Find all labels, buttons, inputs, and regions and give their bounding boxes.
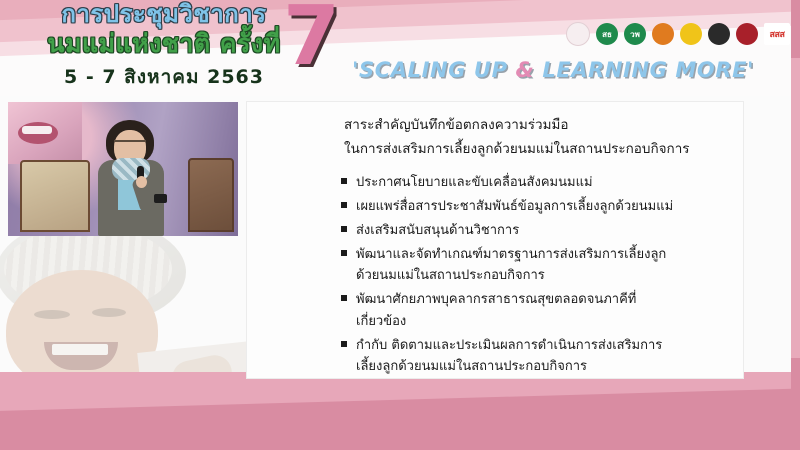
logo-green-health-1: สธ xyxy=(596,23,618,45)
logo-red-seal xyxy=(736,23,758,45)
bullet-square-icon xyxy=(341,202,347,208)
logo-thaihealth: สสส xyxy=(764,23,790,45)
logo-yellow-crest xyxy=(680,23,702,45)
logo-orange-crest xyxy=(652,23,674,45)
list-item: เผยแพร่สื่อสารประชาสัมพันธ์ข้อมูลการเลี้… xyxy=(341,196,725,217)
edition-number: 7 xyxy=(283,0,340,78)
logo-royal-emblem xyxy=(566,22,590,46)
conference-date: 5 - 7 สิงหาคม 2563 xyxy=(14,62,314,92)
list-item: ส่งเสริมสนับสนุนด้านวิชาการ xyxy=(341,220,725,241)
list-item: พัฒนาศักยภาพบุคลากรสาธารณสุขตลอดจนภาคีที… xyxy=(341,289,725,331)
speaker-glasses xyxy=(114,140,146,149)
baby-teeth xyxy=(52,344,108,355)
stage-chair-left xyxy=(20,160,90,232)
conference-title-block: การประชุมวิชาการ นมแม่แห่งชาติ ครั้งที่ … xyxy=(14,2,314,92)
bullet-square-icon xyxy=(341,226,347,232)
slide-bottom-band xyxy=(0,372,800,450)
bullet-text-line1: พัฒนาและจัดทำเกณฑ์มาตรฐานการส่งเสริมการเ… xyxy=(356,247,666,262)
slide-right-frame xyxy=(791,0,800,450)
bullet-text-line1: กำกับ ติดตามและประเมินผลการดำเนินการส่งเ… xyxy=(356,338,662,353)
slide-content-panel: สาระสำคัญบันทึกข้อตกลงความร่วมมือ ในการส… xyxy=(246,101,744,379)
speaker-video-thumbnail[interactable] xyxy=(8,102,238,236)
list-item: ประกาศนโยบายและขับเคลื่อนสังคมนมแม่ xyxy=(341,172,725,193)
bullet-square-icon xyxy=(341,178,347,184)
tagline-prefix: 'SCALING UP xyxy=(352,58,516,82)
slide-right-frame-light xyxy=(791,58,800,358)
stage-backdrop-poster xyxy=(8,102,82,164)
baby-watermark-image xyxy=(0,218,250,388)
bullet-text-line1: ประกาศนโยบายและขับเคลื่อนสังคมนมแม่ xyxy=(356,175,593,190)
bullet-text-line1: เผยแพร่สื่อสารประชาสัมพันธ์ข้อมูลการเลี้… xyxy=(356,199,673,214)
conference-tagline: 'SCALING UP & LEARNING MORE' xyxy=(352,58,754,82)
stage-chair-right xyxy=(188,158,234,232)
list-item: พัฒนาและจัดทำเกณฑ์มาตรฐานการส่งเสริมการเ… xyxy=(341,244,725,286)
logo-green-health-2: วพ xyxy=(624,23,646,45)
sponsor-logo-strip: สธ วพ สสส xyxy=(566,22,790,46)
bullet-text-line2: เลี้ยงลูกด้วยนมแม่ในสถานประกอบกิจการ xyxy=(356,356,725,377)
tagline-ampersand: & xyxy=(516,58,535,82)
speaker-hand xyxy=(136,176,147,188)
bullet-square-icon xyxy=(341,295,347,301)
bullet-text-line1: ส่งเสริมสนับสนุนด้านวิชาการ xyxy=(356,223,519,238)
bullet-square-icon xyxy=(341,341,347,347)
baby-eye-right xyxy=(92,308,126,317)
speaker-figure xyxy=(92,120,170,236)
presentation-slide: การประชุมวิชาการ นมแม่แห่งชาติ ครั้งที่ … xyxy=(0,0,800,450)
baby-eye-left xyxy=(34,310,70,319)
content-heading-line2: ในการส่งเสริมการเลี้ยงลูกด้วยนมแม่ในสถาน… xyxy=(344,138,725,162)
bullet-square-icon xyxy=(341,250,347,256)
poster-teeth-shape xyxy=(22,126,52,134)
list-item: กำกับ ติดตามและประเมินผลการดำเนินการส่งเ… xyxy=(341,335,725,377)
tagline-suffix: LEARNING MORE' xyxy=(534,58,754,82)
content-bullet-list: ประกาศนโยบายและขับเคลื่อนสังคมนมแม่ เผยแ… xyxy=(269,172,725,376)
conference-title-line1: การประชุมวิชาการ xyxy=(14,2,314,28)
logo-black-seal xyxy=(708,23,730,45)
baby-face xyxy=(6,270,158,388)
bullet-text-line2: ด้วยนมแม่ในสถานประกอบกิจการ xyxy=(356,265,725,286)
conference-title-line2: นมแม่แห่งชาติ ครั้งที่ xyxy=(14,30,314,58)
content-heading: สาระสำคัญบันทึกข้อตกลงความร่วมมือ ในการส… xyxy=(344,114,725,161)
content-heading-line1: สาระสำคัญบันทึกข้อตกลงความร่วมมือ xyxy=(344,114,725,138)
bullet-text-line2: เกี่ยวข้อง xyxy=(356,311,725,332)
bullet-text-line1: พัฒนาศักยภาพบุคลากรสาธารณสุขตลอดจนภาคีที… xyxy=(356,292,636,307)
presenter-remote-icon xyxy=(154,194,167,203)
slide-header: การประชุมวิชาการ นมแม่แห่งชาติ ครั้งที่ … xyxy=(0,0,800,96)
